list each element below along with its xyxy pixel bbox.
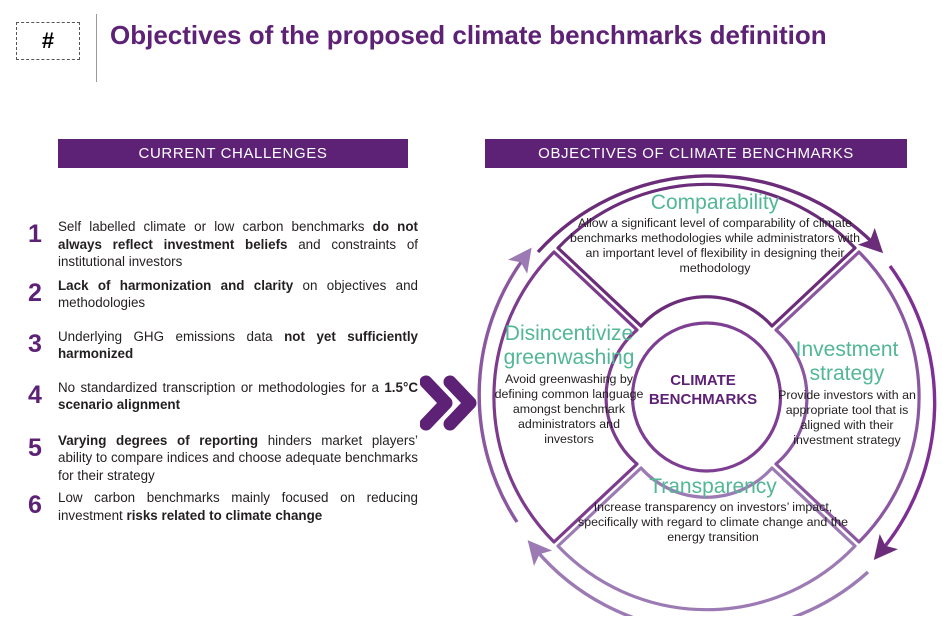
quadrant-transparency: Transparency Increase transparency on in…	[578, 476, 848, 545]
challenge-text-run: Underlying GHG emissions data	[58, 329, 284, 344]
challenge-text: No standardized transcription or methodo…	[58, 379, 418, 414]
center-label: CLIMATE BENCHMARKS	[624, 371, 782, 409]
challenge-text-emphasis: risks related to climate change	[126, 508, 322, 523]
quadrant-body: Allow a significant level of comparabili…	[570, 216, 860, 276]
center-label-line1: CLIMATE	[624, 371, 782, 390]
challenge-item: 3Underlying GHG emissions data not yet s…	[28, 328, 418, 363]
quadrant-comparability: Comparability Allow a significant level …	[570, 192, 860, 276]
quadrant-body: Provide investors with an appropriate to…	[772, 388, 922, 448]
slide-header: # Objectives of the proposed climate ben…	[0, 0, 943, 95]
challenge-number: 2	[28, 277, 58, 303]
challenge-number: 1	[28, 218, 58, 244]
header-divider	[96, 14, 97, 82]
challenge-item: 4No standardized transcription or method…	[28, 379, 418, 414]
challenge-text: Low carbon benchmarks mainly focused on …	[58, 489, 418, 524]
challenge-text: Lack of harmonization and clarity on obj…	[58, 277, 418, 312]
challenges-list: 1Self labelled climate or low carbon ben…	[28, 218, 418, 535]
cycle-diagram: Comparability Allow a significant level …	[470, 170, 943, 616]
challenge-item: 5Varying degrees of reporting hinders ma…	[28, 432, 418, 485]
quadrant-title: Investment strategy	[772, 338, 922, 386]
section-banner-objectives: OBJECTIVES OF CLIMATE BENCHMARKS	[485, 139, 907, 168]
challenge-text-run: No standardized transcription or methodo…	[58, 380, 384, 395]
slide-number-placeholder: #	[16, 22, 80, 60]
quadrant-title: Disincentivize greenwashing	[494, 322, 644, 370]
challenge-number: 3	[28, 328, 58, 354]
challenge-item: 6Low carbon benchmarks mainly focused on…	[28, 489, 418, 524]
challenge-number: 6	[28, 489, 58, 515]
arrow-bottom	[536, 550, 868, 616]
quadrant-body: Increase transparency on investors’ impa…	[578, 500, 848, 545]
section-banner-current-challenges: CURRENT CHALLENGES	[58, 139, 408, 168]
quadrant-title: Transparency	[578, 476, 848, 498]
challenge-item: 1Self labelled climate or low carbon ben…	[28, 218, 418, 271]
challenge-text-run: Self labelled climate or low carbon benc…	[58, 219, 373, 234]
quadrant-body: Avoid greenwashing by defining common la…	[494, 372, 644, 447]
center-label-line2: BENCHMARKS	[624, 390, 782, 409]
challenge-text-emphasis: Lack of harmonization and clarity	[58, 278, 293, 293]
quadrant-investment-strategy: Investment strategy Provide investors wi…	[772, 338, 922, 448]
challenge-number: 4	[28, 379, 58, 405]
challenge-text: Self labelled climate or low carbon benc…	[58, 218, 418, 271]
challenge-item: 2Lack of harmonization and clarity on ob…	[28, 277, 418, 312]
challenge-number: 5	[28, 432, 58, 458]
challenge-text: Varying degrees of reporting hinders mar…	[58, 432, 418, 485]
page-title: Objectives of the proposed climate bench…	[110, 20, 827, 51]
quadrant-disincentivize-greenwashing: Disincentivize greenwashing Avoid greenw…	[494, 322, 644, 447]
challenge-text: Underlying GHG emissions data not yet su…	[58, 328, 418, 363]
quadrant-title: Comparability	[570, 192, 860, 214]
challenge-text-emphasis: Varying degrees of reporting	[58, 433, 258, 448]
